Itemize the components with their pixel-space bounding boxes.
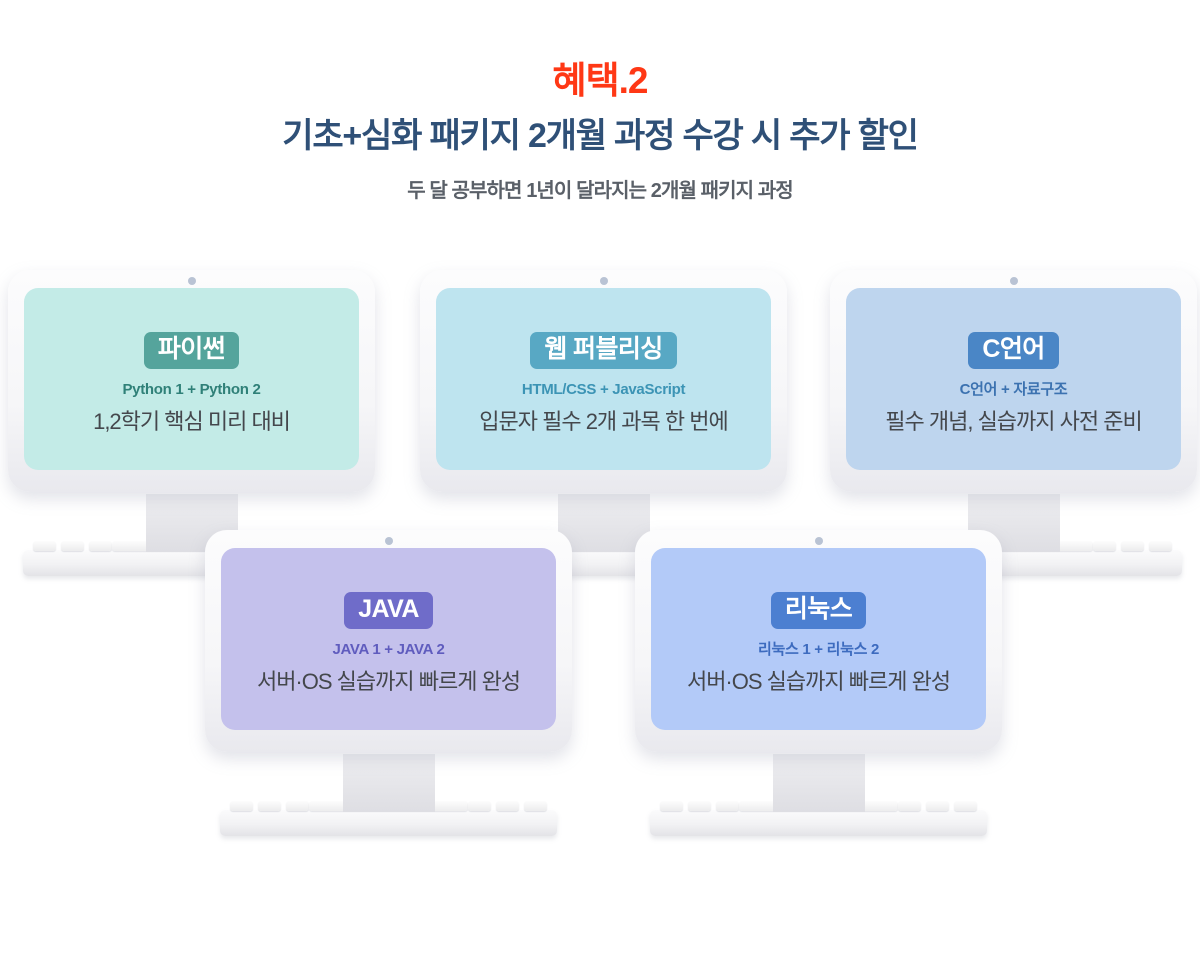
monitor-screen: JAVAJAVA 1 + JAVA 2서버·OS 실습까지 빠르게 완성 [221, 548, 556, 730]
keyboard-key [660, 801, 683, 811]
course-subjects: C언어 + 자료구조 [960, 382, 1068, 397]
course-description: 필수 개념, 실습까지 사전 준비 [885, 411, 1141, 433]
keyboard-key [716, 801, 739, 811]
monitor-screen: 리눅스리눅스 1 + 리눅스 2서버·OS 실습까지 빠르게 완성 [651, 548, 986, 730]
keyboard-key [1093, 541, 1116, 551]
keyboard-key [954, 801, 977, 811]
course-description: 1,2학기 핵심 미리 대비 [93, 411, 290, 433]
keyboard-key [33, 541, 56, 551]
course-description: 서버·OS 실습까지 빠르게 완성 [687, 671, 950, 693]
keyboard-key [926, 801, 949, 811]
monitor-bezel: 웹 퍼블리싱HTML/CSS + JavaScript입문자 필수 2개 과목 … [420, 270, 787, 492]
course-subjects: Python 1 + Python 2 [122, 382, 260, 397]
course-description: 서버·OS 실습까지 빠르게 완성 [257, 671, 520, 693]
keyboard-key [688, 801, 711, 811]
monitor-screen: C언어C언어 + 자료구조필수 개념, 실습까지 사전 준비 [846, 288, 1181, 470]
course-description: 입문자 필수 2개 과목 한 번에 [479, 411, 727, 433]
webcam-icon [385, 537, 393, 545]
keyboard [220, 810, 557, 836]
keyboard-key [468, 801, 491, 811]
monitor-stand [343, 754, 435, 812]
webcam-icon [815, 537, 823, 545]
keyboard-key [258, 801, 281, 811]
monitor-grid: 파이썬Python 1 + Python 21,2학기 핵심 미리 대비웹 퍼블… [0, 0, 1200, 700]
monitor-bezel: 파이썬Python 1 + Python 21,2학기 핵심 미리 대비 [8, 270, 375, 492]
webcam-icon [600, 277, 608, 285]
keyboard-key [1121, 541, 1144, 551]
course-subjects: JAVA 1 + JAVA 2 [332, 642, 444, 657]
keyboard-key [524, 801, 547, 811]
keyboard-key [898, 801, 921, 811]
keyboard-key [1149, 541, 1172, 551]
course-badge: 웹 퍼블리싱 [530, 332, 676, 369]
monitor-bezel: 리눅스리눅스 1 + 리눅스 2서버·OS 실습까지 빠르게 완성 [635, 530, 1002, 752]
webcam-icon [1010, 277, 1018, 285]
course-badge: JAVA [344, 592, 433, 629]
keyboard-key [286, 801, 309, 811]
monitor-bezel: JAVAJAVA 1 + JAVA 2서버·OS 실습까지 빠르게 완성 [205, 530, 572, 752]
keyboard-key [61, 541, 84, 551]
course-subjects: HTML/CSS + JavaScript [522, 382, 685, 397]
monitor-bezel: C언어C언어 + 자료구조필수 개념, 실습까지 사전 준비 [830, 270, 1197, 492]
keyboard-key [230, 801, 253, 811]
monitor-stand [773, 754, 865, 812]
promo-page: 혜택.2 기초+심화 패키지 2개월 과정 수강 시 추가 할인 두 달 공부하… [0, 0, 1200, 958]
keyboard [650, 810, 987, 836]
course-badge: 파이썬 [144, 332, 239, 369]
monitor-screen: 파이썬Python 1 + Python 21,2학기 핵심 미리 대비 [24, 288, 359, 470]
monitor-screen: 웹 퍼블리싱HTML/CSS + JavaScript입문자 필수 2개 과목 … [436, 288, 771, 470]
course-subjects: 리눅스 1 + 리눅스 2 [758, 642, 879, 657]
webcam-icon [188, 277, 196, 285]
keyboard-key [89, 541, 112, 551]
course-badge: 리눅스 [771, 592, 866, 629]
keyboard-key [496, 801, 519, 811]
course-badge: C언어 [968, 332, 1058, 369]
